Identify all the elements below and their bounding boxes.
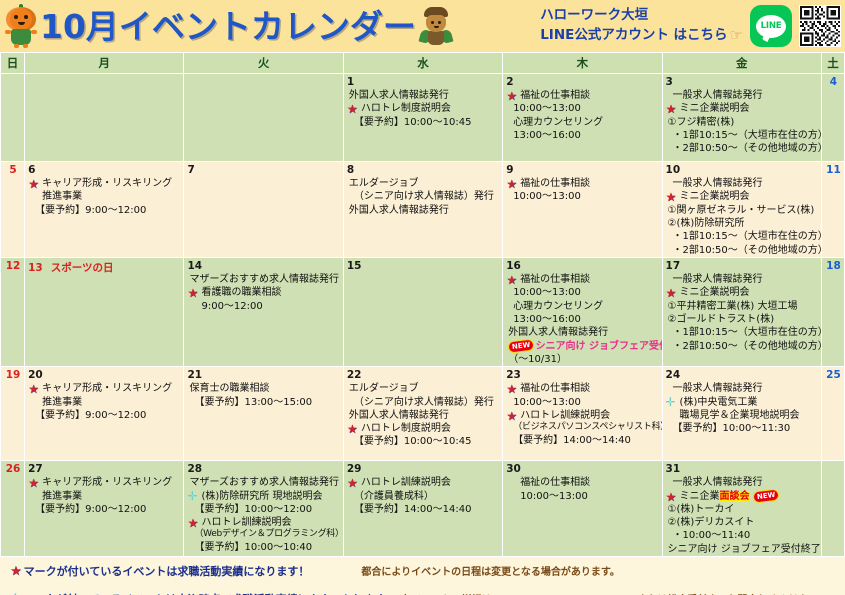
event-item: 13:00～16:00	[506, 129, 659, 142]
day-cell-30[interactable]: 30 福祉の仕事相談 10:00～13:00	[503, 461, 662, 557]
event-item: エルダージョブ	[347, 382, 500, 395]
event-item: エルダージョブ	[347, 177, 500, 190]
day-cell-25[interactable]: 25	[821, 367, 844, 461]
pointing-hand-icon: ☞	[730, 28, 743, 43]
event-item-new: NEWシニア向け ジョブフェア受付開始	[506, 340, 659, 353]
day-cell-27[interactable]: 27 ★キャリア形成・リスキリング 推進事業 【要予約】9:00～12:00	[25, 461, 184, 557]
day-number: 1	[347, 76, 500, 89]
event-item: 【要予約】13:00～15:00	[187, 396, 340, 409]
star-marker-icon: ★	[666, 103, 677, 115]
day-cell-5[interactable]: 5	[1, 162, 25, 258]
weekday-header-tue: 火	[184, 53, 343, 74]
event-item: 10:00～13:00	[506, 102, 659, 115]
day-cell-26[interactable]: 26	[1, 461, 25, 557]
day-cell-24[interactable]: 24 一般求人情報誌発行 ✛(株)中央電気工業 職場見学＆企業現地説明会 【要予…	[662, 367, 821, 461]
star-marker-icon: ★	[506, 410, 517, 422]
line-promo-text: ハローワーク大垣 LINE公式アカウント はこちら ☞	[540, 6, 743, 45]
day-cell-23[interactable]: 23 ★福祉の仕事相談 10:00～13:00 ★ハロトレ訓練説明会 （ビジネス…	[503, 367, 662, 461]
event-list: ★キャリア形成・リスキリング 推進事業 【要予約】9:00～12:00	[28, 476, 181, 516]
footer-note-row-1: ★マークが付いているイベントは求職活動実績になります！ 都合によりイベントの日程…	[10, 563, 839, 579]
qr-code-icon	[799, 5, 841, 47]
day-cell-7[interactable]: 7	[184, 162, 343, 258]
day-number: 3	[666, 76, 819, 89]
day-cell-11[interactable]: 11	[821, 162, 844, 258]
event-text-highlighted: 面談会	[720, 491, 750, 502]
day-number: 30	[506, 463, 659, 476]
star-marker-icon: ★	[347, 477, 358, 489]
day-cell-28[interactable]: 28 マザーズおすすめ求人情報誌発行 ✛(株)防除研究所 現地説明会 【要予約】…	[184, 461, 343, 557]
star-marker-icon: ★	[347, 103, 358, 115]
footer-note-row-2: ✛マークが付いているイベントは申込時点で求職活動実績にカウントします。 各イベン…	[10, 591, 839, 595]
event-item: 一般求人情報誌発行	[666, 273, 819, 286]
event-list: ★キャリア形成・リスキリング 推進事業 【要予約】9:00～12:00	[28, 382, 181, 422]
day-number: 13	[28, 262, 43, 275]
event-item: ・2部10:50～（その他地域の方）	[666, 340, 819, 353]
event-list: 外国人求人情報誌発行 ★ハロトレ制度説明会 【要予約】10:00～10:45	[347, 89, 500, 129]
event-item: 福祉の仕事相談	[506, 476, 659, 489]
day-cell-6[interactable]: 6 ★キャリア形成・リスキリング 推進事業 【要予約】9:00～12:00	[25, 162, 184, 258]
event-list: 一般求人情報誌発行 ★ミニ企業説明会 ①平井精密工業(株) 大垣工場 ②ゴールド…	[666, 273, 819, 353]
cross-marker-icon: ✛	[187, 490, 197, 503]
footer-note-2-b: で求職活動実績にカウントします。	[221, 591, 396, 595]
day-cell-empty	[184, 74, 343, 162]
event-item: 【要予約】14:00～14:40	[506, 434, 659, 447]
weekday-header-sat: 土	[821, 53, 844, 74]
footer-note-cross: ✛マークが付いているイベントは申込時点で求職活動実績にカウントします。	[10, 591, 395, 595]
day-number: 7	[187, 164, 340, 177]
star-marker-icon: ★	[28, 477, 39, 489]
day-number: 16	[506, 260, 659, 273]
event-item: 【要予約】10:00～11:30	[666, 422, 819, 435]
day-number: 21	[187, 369, 340, 382]
day-cell-10[interactable]: 10 一般求人情報誌発行 ★ミニ企業説明会 ①関ヶ原ゼネラル・サービス(株) ②…	[662, 162, 821, 258]
event-item: ②(株)デリカスイト	[666, 516, 819, 529]
day-cell-12[interactable]: 12	[1, 257, 25, 366]
day-number: 28	[187, 463, 340, 476]
line-app-icon[interactable]: LINE	[750, 5, 792, 47]
line-promo-line1: ハローワーク大垣	[540, 6, 743, 26]
footer-note-1-text: マークが付いているイベントは求職活動実績になります！	[24, 563, 310, 579]
line-promo-line2: LINE公式アカウント はこちら	[540, 26, 727, 46]
event-list: マザーズおすすめ求人情報誌発行 ★看護職の職業相談 9:00～12:00	[187, 273, 340, 313]
event-item: 【要予約】10:00～12:00	[187, 503, 340, 516]
new-event-text: シニア向け ジョブフェア受付開始	[536, 341, 662, 352]
event-item: 心理カウンセリング	[506, 300, 659, 313]
event-item: ①フジ精密(株)	[666, 116, 819, 129]
weekday-header-fri: 金	[662, 53, 821, 74]
day-number: 25	[825, 369, 842, 382]
event-item: 【要予約】9:00～12:00	[28, 503, 181, 516]
page-header: 10月イベントカレンダー ハローワーク大垣 LINE公式アカウント はこちら ☞…	[0, 0, 845, 52]
event-list: ★福祉の仕事相談 10:00～13:00 心理カウンセリング 13:00～16:…	[506, 89, 659, 142]
event-item: ★福祉の仕事相談	[506, 89, 659, 102]
event-item: 【要予約】9:00～12:00	[28, 409, 181, 422]
day-number: 4	[825, 76, 842, 89]
event-item: 【要予約】9:00～12:00	[28, 204, 181, 217]
day-number: 20	[28, 369, 181, 382]
calendar-week-row: 5 6 ★キャリア形成・リスキリング 推進事業 【要予約】9:00～12:00 …	[1, 162, 845, 258]
event-item: 13:00～16:00	[506, 313, 659, 326]
event-item-highlight: ★ミニ企業面談会 NEW	[666, 490, 819, 503]
event-item: 推進事業	[28, 396, 181, 409]
star-marker-icon: ★	[28, 383, 39, 395]
star-marker-icon: ★	[666, 191, 677, 203]
day-number: 17	[666, 260, 819, 273]
event-item: ★ハロトレ訓練説明会	[187, 516, 340, 529]
event-list: 一般求人情報誌発行 ★ミニ企業説明会 ①フジ精密(株) ・1部10:15～（大垣…	[666, 89, 819, 155]
event-item: ★福祉の仕事相談	[506, 382, 659, 395]
day-cell-17[interactable]: 17 一般求人情報誌発行 ★ミニ企業説明会 ①平井精密工業(株) 大垣工場 ②ゴ…	[662, 257, 821, 366]
event-item: 【要予約】10:00～10:45	[347, 435, 500, 448]
day-cell-1[interactable]: 1 外国人求人情報誌発行 ★ハロトレ制度説明会 【要予約】10:00～10:45	[343, 74, 502, 162]
day-number: 6	[28, 164, 181, 177]
day-cell-14[interactable]: 14 マザーズおすすめ求人情報誌発行 ★看護職の職業相談 9:00～12:00	[184, 257, 343, 366]
star-marker-icon: ★	[506, 178, 517, 190]
event-item: ★キャリア形成・リスキリング	[28, 476, 181, 489]
event-item: シニア向け ジョブフェア受付終了	[666, 543, 819, 556]
line-badge-label: LINE	[761, 21, 782, 31]
event-item: （シニア向け求人情報誌）発行	[347, 396, 500, 409]
page-title: 10月イベントカレンダー	[40, 10, 416, 43]
event-list: 一般求人情報誌発行 ★ミニ企業面談会 NEW ①(株)トーカイ ②(株)デリカス…	[666, 476, 819, 556]
calendar-page: 10月イベントカレンダー ハローワーク大垣 LINE公式アカウント はこちら ☞…	[0, 0, 845, 595]
star-marker-icon: ★	[506, 274, 517, 286]
calendar-week-row: 19 20 ★キャリア形成・リスキリング 推進事業 【要予約】9:00～12:0…	[1, 367, 845, 461]
day-number: 29	[347, 463, 500, 476]
event-list: 福祉の仕事相談 10:00～13:00	[506, 476, 659, 503]
event-item: ②ゴールドトラスト(株)	[666, 313, 819, 326]
event-list: エルダージョブ （シニア向け求人情報誌）発行 外国人求人情報誌発行 ★ハロトレ制…	[347, 382, 500, 448]
day-number: 5	[4, 164, 22, 177]
star-marker-icon: ★	[347, 423, 358, 435]
cross-marker-icon: ✛	[666, 396, 676, 409]
event-item: ・2部10:50～（その他地域の方）	[666, 244, 819, 257]
footer-note-2-underline: 申込時点	[177, 591, 221, 595]
day-cell-13[interactable]: 13 スポーツの日	[25, 257, 184, 366]
event-item: ✛(株)防除研究所 現地説明会	[187, 490, 340, 503]
day-number: 2	[506, 76, 659, 89]
event-list: ★福祉の仕事相談 10:00～13:00 心理カウンセリング 13:00～16:…	[506, 273, 659, 366]
acorn-character-icon	[420, 5, 452, 47]
day-number: 9	[506, 164, 659, 177]
event-item: 9:00～12:00	[187, 300, 340, 313]
event-item: （ビジネスパソコンスペシャリスト科）	[506, 422, 659, 434]
calendar-week-row: 26 27 ★キャリア形成・リスキリング 推進事業 【要予約】9:00～12:0…	[1, 461, 845, 557]
holiday-label: スポーツの日	[51, 260, 114, 275]
event-list: 保育士の職業相談 【要予約】13:00～15:00	[187, 382, 340, 409]
event-item: ✛(株)中央電気工業	[666, 396, 819, 409]
event-item: 【要予約】10:00～10:40	[187, 541, 340, 554]
event-item: ★ハロトレ訓練説明会	[347, 476, 500, 489]
event-item: 10:00～13:00	[506, 286, 659, 299]
event-list: ★ハロトレ訓練説明会 （介護員養成科） 【要予約】14:00～14:40	[347, 476, 500, 516]
star-marker-icon: ★	[506, 383, 517, 395]
event-item: ①平井精密工業(株) 大垣工場	[666, 300, 819, 313]
event-item: ・1部10:15～（大垣市在住の方）	[666, 129, 819, 142]
day-cell-21[interactable]: 21 保育士の職業相談 【要予約】13:00～15:00	[184, 367, 343, 461]
day-number: 14	[187, 260, 340, 273]
event-item: ★福祉の仕事相談	[506, 273, 659, 286]
day-cell-29[interactable]: 29 ★ハロトレ訓練説明会 （介護員養成科） 【要予約】14:00～14:40	[343, 461, 502, 557]
day-cell-9[interactable]: 9 ★福祉の仕事相談 10:00～13:00	[503, 162, 662, 258]
new-badge: NEW	[752, 488, 780, 503]
event-list: 一般求人情報誌発行 ★ミニ企業説明会 ①関ヶ原ゼネラル・サービス(株) ②(株)…	[666, 177, 819, 257]
day-number: 24	[666, 369, 819, 382]
event-item: ★福祉の仕事相談	[506, 177, 659, 190]
star-marker-icon: ★	[506, 90, 517, 102]
weekday-header-mon: 月	[25, 53, 184, 74]
calendar-footer: ★マークが付いているイベントは求職活動実績になります！ 都合によりイベントの日程…	[0, 557, 845, 595]
event-item: ★看護職の職業相談	[187, 286, 340, 299]
weekday-header-sun: 日	[1, 53, 25, 74]
event-item: ★ミニ企業説明会	[666, 286, 819, 299]
event-item: ★ミニ企業説明会	[666, 190, 819, 203]
day-cell-empty	[821, 461, 844, 557]
event-item: （介護員養成科）	[347, 490, 500, 503]
event-item: ・2部10:50～（その他地域の方）	[666, 142, 819, 155]
star-marker-icon: ★	[187, 287, 198, 299]
day-cell-empty	[1, 74, 25, 162]
day-number: 15	[347, 260, 500, 273]
day-number: 31	[666, 463, 819, 476]
footer-contact-info: 各イベントの詳細は、☎０５８４－７３－９２９４ または総合受付までお問合わせくだ…	[401, 591, 827, 595]
day-cell-19[interactable]: 19	[1, 367, 25, 461]
star-marker-icon: ★	[666, 491, 677, 503]
day-cell-20[interactable]: 20 ★キャリア形成・リスキリング 推進事業 【要予約】9:00～12:00	[25, 367, 184, 461]
day-cell-empty	[25, 74, 184, 162]
day-cell-16[interactable]: 16 ★福祉の仕事相談 10:00～13:00 心理カウンセリング 13:00～…	[503, 257, 662, 366]
event-list: ★福祉の仕事相談 10:00～13:00	[506, 177, 659, 204]
event-item: ・1部10:15～（大垣市在住の方）	[666, 326, 819, 339]
event-item: 【要予約】14:00～14:40	[347, 503, 500, 516]
day-number: 22	[347, 369, 500, 382]
day-cell-4[interactable]: 4	[821, 74, 844, 162]
event-item: （～10/31）	[506, 353, 659, 366]
event-list: エルダージョブ （シニア向け求人情報誌）発行 外国人求人情報誌発行	[347, 177, 500, 217]
day-cell-2[interactable]: 2 ★福祉の仕事相談 10:00～13:00 心理カウンセリング 13:00～1…	[503, 74, 662, 162]
event-item: 推進事業	[28, 190, 181, 203]
event-item: マザーズおすすめ求人情報誌発行	[187, 476, 340, 489]
event-item: ★ハロトレ制度説明会	[347, 422, 500, 435]
footer-note-star: ★マークが付いているイベントは求職活動実績になります！	[10, 563, 309, 579]
weekday-header-thu: 木	[503, 53, 662, 74]
day-cell-22[interactable]: 22 エルダージョブ （シニア向け求人情報誌）発行 外国人求人情報誌発行 ★ハロ…	[343, 367, 502, 461]
event-item: ★ハロトレ制度説明会	[347, 102, 500, 115]
event-text-plain: ミニ企業	[680, 491, 720, 502]
event-item: ★ミニ企業説明会	[666, 102, 819, 115]
event-item: 【要予約】10:00～10:45	[347, 116, 500, 129]
event-item: 推進事業	[28, 490, 181, 503]
new-badge: NEW	[508, 338, 536, 353]
event-list: マザーズおすすめ求人情報誌発行 ✛(株)防除研究所 現地説明会 【要予約】10:…	[187, 476, 340, 554]
event-item: 外国人求人情報誌発行	[506, 326, 659, 339]
event-item: ①関ヶ原ゼネラル・サービス(株)	[666, 204, 819, 217]
day-number: 26	[4, 463, 22, 476]
event-item: ・10:00～11:40	[666, 529, 819, 542]
footer-note-2-a: マークが付いているイベントは	[23, 591, 177, 595]
event-item: 10:00～13:00	[506, 190, 659, 203]
star-marker-icon: ★	[28, 178, 39, 190]
calendar-week-row: 12 13 スポーツの日 14 マザーズおすすめ求人情報誌発行 ★看護職の職業相…	[1, 257, 845, 366]
day-cell-18[interactable]: 18	[821, 257, 844, 366]
event-item: （シニア向け求人情報誌）発行	[347, 190, 500, 203]
calendar-week-row: 1 外国人求人情報誌発行 ★ハロトレ制度説明会 【要予約】10:00～10:45…	[1, 74, 845, 162]
event-item: ①(株)トーカイ	[666, 503, 819, 516]
line-official-account-promo[interactable]: ハローワーク大垣 LINE公式アカウント はこちら ☞ LINE	[540, 5, 841, 47]
event-item: 一般求人情報誌発行	[666, 177, 819, 190]
day-number: 8	[347, 164, 500, 177]
event-item: 保育士の職業相談	[187, 382, 340, 395]
day-number: 18	[825, 260, 842, 273]
day-number: 12	[4, 260, 22, 273]
event-item: ②(株)防除研究所	[666, 217, 819, 230]
day-cell-31[interactable]: 31 一般求人情報誌発行 ★ミニ企業面談会 NEW ①(株)トーカイ ②(株)デ…	[662, 461, 821, 557]
day-cell-8[interactable]: 8 エルダージョブ （シニア向け求人情報誌）発行 外国人求人情報誌発行	[343, 162, 502, 258]
weekday-header-row: 日 月 火 水 木 金 土	[1, 53, 845, 74]
day-cell-3[interactable]: 3 一般求人情報誌発行 ★ミニ企業説明会 ①フジ精密(株) ・1部10:15～（…	[662, 74, 821, 162]
day-number: 23	[506, 369, 659, 382]
event-item: ・1部10:15～（大垣市在住の方）	[666, 230, 819, 243]
star-marker-icon: ★	[10, 564, 22, 579]
event-item: 一般求人情報誌発行	[666, 382, 819, 395]
event-item: 10:00～13:00	[506, 396, 659, 409]
event-list: 一般求人情報誌発行 ✛(株)中央電気工業 職場見学＆企業現地説明会 【要予約】1…	[666, 382, 819, 435]
event-item: ★キャリア形成・リスキリング	[28, 177, 181, 190]
event-item: 一般求人情報誌発行	[666, 476, 819, 489]
weekday-header-wed: 水	[343, 53, 502, 74]
day-number: 10	[666, 164, 819, 177]
pumpkin-character-icon	[4, 4, 38, 48]
day-cell-15[interactable]: 15	[343, 257, 502, 366]
day-number: 27	[28, 463, 181, 476]
event-list: ★キャリア形成・リスキリング 推進事業 【要予約】9:00～12:00	[28, 177, 181, 217]
star-marker-icon: ★	[666, 287, 677, 299]
event-item: 10:00～13:00	[506, 490, 659, 503]
cross-marker-icon: ✛	[10, 592, 21, 595]
event-item: 心理カウンセリング	[506, 116, 659, 129]
event-item: 職場見学＆企業現地説明会	[666, 409, 819, 422]
star-marker-icon: ★	[187, 517, 198, 529]
event-item: （Webデザイン＆プログラミング科）	[187, 529, 340, 541]
footer-disclaimer-1: 都合によりイベントの日程は変更となる場合があります。	[361, 563, 620, 578]
event-item: 外国人求人情報誌発行	[347, 204, 500, 217]
event-item: ★キャリア形成・リスキリング	[28, 382, 181, 395]
event-item: 外国人求人情報誌発行	[347, 89, 500, 102]
event-item: マザーズおすすめ求人情報誌発行	[187, 273, 340, 286]
event-item: 外国人求人情報誌発行	[347, 409, 500, 422]
event-list: ★福祉の仕事相談 10:00～13:00 ★ハロトレ訓練説明会 （ビジネスパソコ…	[506, 382, 659, 447]
day-number: 11	[825, 164, 842, 177]
day-number: 19	[4, 369, 22, 382]
event-item: ★ハロトレ訓練説明会	[506, 409, 659, 422]
event-calendar-table: 日 月 火 水 木 金 土 1 外国人求人情報誌発行 ★ハロトレ制度説明会	[0, 52, 845, 557]
event-item: 一般求人情報誌発行	[666, 89, 819, 102]
